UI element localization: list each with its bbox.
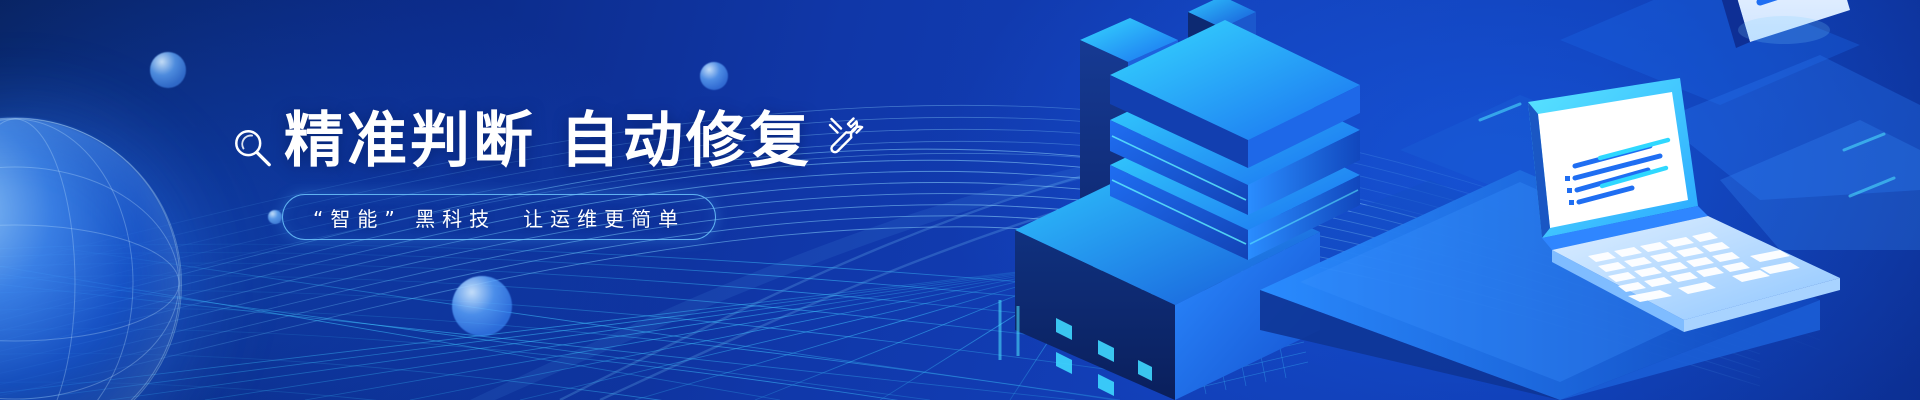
- sphere-top-left: [150, 52, 186, 88]
- sphere-top-mid: [700, 62, 728, 90]
- laptop-keys: [1588, 232, 1800, 302]
- isometric-illustration: [960, 0, 1920, 400]
- backdrop-blocks: [1280, 0, 1920, 305]
- subtitle-pill: “智能” 黑科技 让运维更简单: [282, 194, 716, 240]
- cyan-accent-lines: [1000, 104, 1894, 360]
- document-lines: [1754, 0, 1816, 2]
- isometric-server-tower: [1015, 20, 1360, 400]
- glowing-globe: [0, 118, 180, 400]
- sphere-center: [452, 276, 512, 336]
- magnifier-icon: [232, 127, 274, 169]
- wrench-icon: [824, 113, 868, 157]
- screen-bullet-dots: [1565, 176, 1574, 205]
- isometric-laptop: [1528, 78, 1840, 332]
- globe-ring: [0, 118, 182, 400]
- page-title: 精准判断 自动修复: [284, 109, 812, 173]
- screen-text-lines: [1565, 140, 1668, 205]
- subtitle-text: “智能” 黑科技 让运维更简单: [313, 203, 685, 232]
- headline-block: 精准判断 自动修复 “智能” 黑科技 让运维更简单: [232, 104, 852, 240]
- tech-banner: 精准判断 自动修复 “智能” 黑科技 让运维更简单: [0, 0, 1920, 400]
- isometric-skyscrapers: [1080, 0, 1256, 330]
- floating-document-card: [1706, 0, 1850, 48]
- headline-row: 精准判断 自动修复: [232, 104, 852, 178]
- laptop-platform: [1260, 170, 1820, 400]
